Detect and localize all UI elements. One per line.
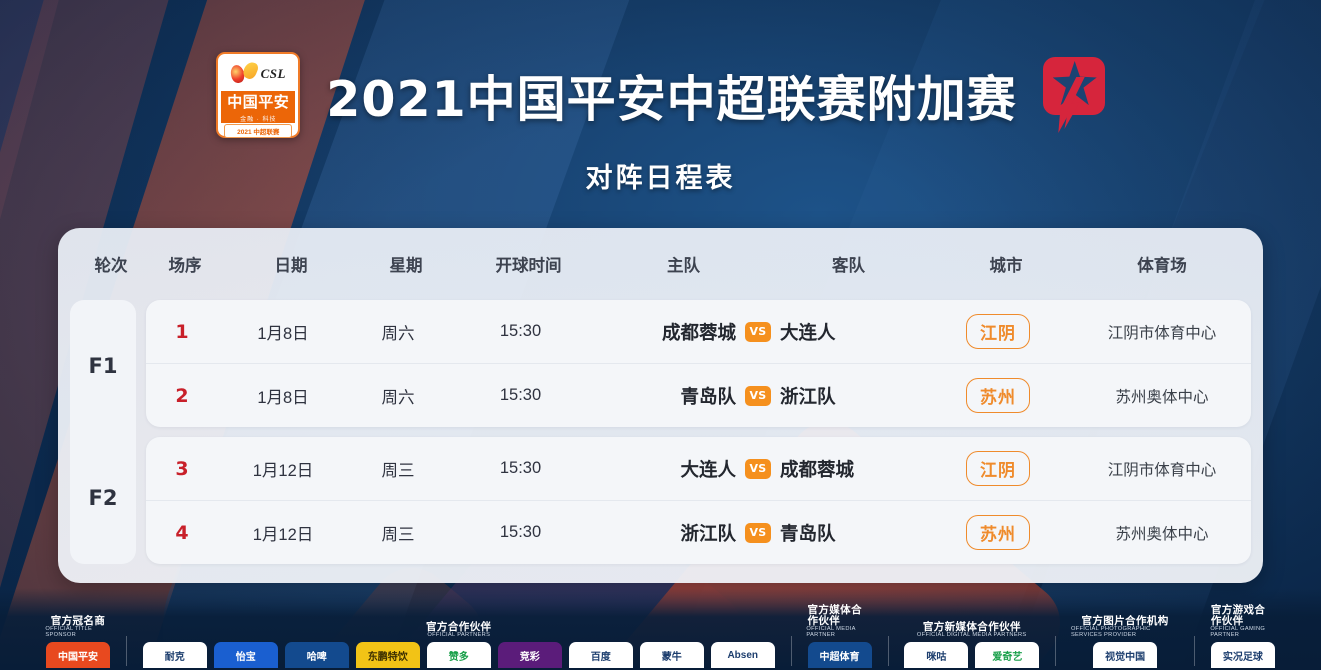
sponsor-logo[interactable]: 哈啤	[285, 642, 349, 668]
cell-weekday: 周三	[348, 457, 448, 481]
cell-date: 1月8日	[218, 384, 348, 408]
away-team: 浙江队	[780, 383, 880, 409]
csl-logo-top: CSL	[221, 57, 295, 91]
away-team: 大连人	[780, 319, 880, 345]
column-header-home: 主队	[601, 252, 766, 276]
sponsor-logo[interactable]: Absen	[711, 642, 775, 668]
sponsor-group: 官方新媒体合作伙伴OFFICIAL DIGITAL MEDIA PARTNERS…	[904, 622, 1039, 668]
csl-logo-sponsor: 中国平安 金融 · 科技	[221, 91, 295, 123]
sponsor-logo-row: 咪咕爱奇艺	[904, 642, 1039, 668]
home-team: 青岛队	[636, 383, 736, 409]
away-team: 青岛队	[780, 520, 880, 546]
page-subtitle: 对阵日程表	[0, 156, 1321, 195]
cell-matchup: 大连人 VS 成都蓉城	[593, 456, 923, 482]
cell-venue: 苏州奥体中心	[1073, 522, 1251, 544]
sponsor-divider	[791, 636, 792, 666]
sponsor-logo-row: 耐克怡宝哈啤东鹏特饮赞多竞彩百度蒙牛Absen	[143, 642, 775, 668]
table-body: F1 F2 1 1月8日 周六 15:30 成都蓉城 VS 大连人 江阴	[70, 300, 1251, 564]
sponsor-logo[interactable]: 赞多	[427, 642, 491, 668]
cell-date: 1月8日	[218, 320, 348, 344]
csl-flame-icon	[231, 63, 253, 85]
sponsor-logo[interactable]: 竞彩	[498, 642, 562, 668]
home-team: 成都蓉城	[636, 319, 736, 345]
table-row[interactable]: 1 1月8日 周六 15:30 成都蓉城 VS 大连人 江阴 江阴市体育中心	[146, 300, 1251, 363]
sponsor-groups: 官方冠名商OFFICIAL TITLE SPONSOR中国平安官方合作伙伴OFF…	[0, 605, 1321, 670]
cell-date: 1月12日	[218, 457, 348, 481]
page-title: 2021中国平安中超联赛附加赛	[326, 60, 1016, 131]
sponsor-divider	[1055, 636, 1056, 666]
cell-city: 江阴	[923, 451, 1073, 486]
away-team: 成都蓉城	[780, 456, 880, 482]
title-row: CSL 中国平安 金融 · 科技 2021 中超联赛 2021中国平安中超联赛附…	[0, 52, 1321, 138]
csl-star-bolt-icon	[1043, 57, 1105, 133]
city-badge: 江阴	[966, 314, 1030, 349]
csl-logo-sponsor-name: 中国平安	[227, 91, 289, 112]
sponsor-logo-row: 视觉中国	[1093, 642, 1157, 668]
sponsor-caption: 官方图片合作机构OFFICIAL PHOTOGRAPHIC SERVICES P…	[1072, 616, 1178, 639]
column-header-dow: 星期	[356, 252, 456, 276]
sponsor-caption: 官方冠名商OFFICIAL TITLE SPONSOR	[46, 616, 110, 639]
round-group-f2: 3 1月12日 周三 15:30 大连人 VS 成都蓉城 江阴 江阴市体育中心	[146, 437, 1251, 564]
cell-date: 1月12日	[218, 521, 348, 545]
csl-logo-season: 2021 中超联赛	[224, 124, 292, 138]
sponsor-logo[interactable]: 耐克	[143, 642, 207, 668]
csl-logo-mark-text: CSL	[261, 66, 286, 82]
table-header-row: 轮次 场序 日期 星期 开球时间 主队 客队 城市 体育场	[70, 228, 1251, 300]
cell-matchup: 成都蓉城 VS 大连人	[593, 319, 923, 345]
vs-badge-icon: VS	[745, 322, 771, 342]
sponsor-logo[interactable]: 实况足球	[1211, 642, 1275, 668]
cell-weekday: 周六	[348, 384, 448, 408]
table-row[interactable]: 4 1月12日 周三 15:30 浙江队 VS 青岛队 苏州 苏州奥体中心	[146, 500, 1251, 564]
sponsor-caption-en: OFFICIAL PARTNERS	[427, 633, 490, 639]
sponsor-logo[interactable]: 怡宝	[214, 642, 278, 668]
sponsor-caption: 官方媒体合作伙伴OFFICIAL MEDIA PARTNER	[807, 605, 871, 639]
cell-match-no: 2	[146, 385, 218, 407]
csl-league-logo: CSL 中国平安 金融 · 科技 2021 中超联赛	[216, 52, 300, 138]
column-header-time: 开球时间	[456, 252, 601, 276]
page-header: CSL 中国平安 金融 · 科技 2021 中超联赛 2021中国平安中超联赛附…	[0, 52, 1321, 195]
cell-weekday: 周六	[348, 320, 448, 344]
city-badge: 苏州	[966, 515, 1030, 550]
sponsor-group: 官方游戏合作伙伴OFFICIAL GAMING PARTNER实况足球	[1211, 605, 1275, 668]
sponsor-group: 官方媒体合作伙伴OFFICIAL MEDIA PARTNER中超体育	[807, 605, 871, 668]
home-team: 大连人	[636, 456, 736, 482]
sponsor-group: 官方冠名商OFFICIAL TITLE SPONSOR中国平安	[46, 616, 110, 668]
sponsor-logo[interactable]: 中国平安	[46, 642, 110, 668]
cell-weekday: 周三	[348, 521, 448, 545]
sponsor-divider	[126, 636, 127, 666]
column-header-no: 场序	[144, 252, 226, 276]
sponsor-caption: 官方新媒体合作伙伴OFFICIAL DIGITAL MEDIA PARTNERS	[918, 622, 1025, 639]
round-group-f1: 1 1月8日 周六 15:30 成都蓉城 VS 大连人 江阴 江阴市体育中心 2	[146, 300, 1251, 427]
round-column: F1 F2	[70, 300, 136, 564]
city-badge: 苏州	[966, 378, 1030, 413]
sponsor-logo-row: 中超体育	[808, 642, 872, 668]
sponsor-group: 官方合作伙伴OFFICIAL PARTNERS耐克怡宝哈啤东鹏特饮赞多竞彩百度蒙…	[143, 622, 775, 668]
vs-badge-icon: VS	[745, 523, 771, 543]
sponsor-caption-en: OFFICIAL DIGITAL MEDIA PARTNERS	[917, 633, 1027, 639]
cell-venue: 苏州奥体中心	[1073, 385, 1251, 407]
column-header-away: 客队	[766, 252, 931, 276]
sponsor-logo-row: 实况足球	[1211, 642, 1275, 668]
sponsor-logo[interactable]: 视觉中国	[1093, 642, 1157, 668]
round-label-f1: F1	[70, 300, 136, 432]
sponsor-bar: 官方冠名商OFFICIAL TITLE SPONSOR中国平安官方合作伙伴OFF…	[0, 588, 1321, 670]
cell-venue: 江阴市体育中心	[1073, 321, 1251, 343]
schedule-panel: 轮次 场序 日期 星期 开球时间 主队 客队 城市 体育场 F1 F2 1 1月…	[58, 228, 1263, 583]
sponsor-caption-en: OFFICIAL MEDIA PARTNER	[807, 627, 872, 639]
cell-match-no: 3	[146, 458, 218, 480]
sponsor-logo-row: 中国平安	[46, 642, 110, 668]
cell-city: 江阴	[923, 314, 1073, 349]
sponsor-logo[interactable]: 东鹏特饮	[356, 642, 420, 668]
cell-kickoff: 15:30	[448, 523, 593, 542]
cell-venue: 江阴市体育中心	[1073, 458, 1251, 480]
sponsor-logo[interactable]: 蒙牛	[640, 642, 704, 668]
column-header-round: 轮次	[78, 252, 144, 276]
sponsor-caption-cn: 官方媒体合作伙伴	[807, 605, 871, 627]
sponsor-group: 官方图片合作机构OFFICIAL PHOTOGRAPHIC SERVICES P…	[1072, 616, 1178, 668]
cell-city: 苏州	[923, 515, 1073, 550]
round-label-f2: F2	[70, 432, 136, 564]
cell-city: 苏州	[923, 378, 1073, 413]
sponsor-logo[interactable]: 百度	[569, 642, 633, 668]
column-header-city: 城市	[931, 252, 1081, 276]
column-header-venue: 体育场	[1081, 252, 1243, 276]
table-row[interactable]: 3 1月12日 周三 15:30 大连人 VS 成都蓉城 江阴 江阴市体育中心	[146, 437, 1251, 500]
sponsor-logo[interactable]: 爱奇艺	[975, 642, 1039, 668]
cell-kickoff: 15:30	[448, 386, 593, 405]
sponsor-caption: 官方合作伙伴OFFICIAL PARTNERS	[426, 622, 491, 639]
cell-matchup: 浙江队 VS 青岛队	[593, 520, 923, 546]
cell-match-no: 4	[146, 522, 218, 544]
cell-match-no: 1	[146, 321, 218, 343]
sponsor-divider	[1194, 636, 1195, 666]
sponsor-logo[interactable]: 咪咕	[904, 642, 968, 668]
vs-badge-icon: VS	[745, 386, 771, 406]
csl-logo-sponsor-sub: 金融 · 科技	[240, 114, 276, 123]
sponsor-caption-cn: 官方游戏合作伙伴	[1211, 605, 1275, 627]
table-row[interactable]: 2 1月8日 周六 15:30 青岛队 VS 浙江队 苏州 苏州奥体中心	[146, 363, 1251, 427]
sponsor-caption: 官方游戏合作伙伴OFFICIAL GAMING PARTNER	[1211, 605, 1275, 639]
cell-kickoff: 15:30	[448, 459, 593, 478]
cell-matchup: 青岛队 VS 浙江队	[593, 383, 923, 409]
column-header-date: 日期	[226, 252, 356, 276]
city-badge: 江阴	[966, 451, 1030, 486]
cell-kickoff: 15:30	[448, 322, 593, 341]
sponsor-caption-en: OFFICIAL PHOTOGRAPHIC SERVICES PROVIDER	[1071, 627, 1179, 639]
sponsor-divider	[888, 636, 889, 666]
round-groups: 1 1月8日 周六 15:30 成都蓉城 VS 大连人 江阴 江阴市体育中心 2	[146, 300, 1251, 564]
sponsor-logo[interactable]: 中超体育	[808, 642, 872, 668]
vs-badge-icon: VS	[745, 459, 771, 479]
sponsor-caption-en: OFFICIAL GAMING PARTNER	[1210, 627, 1275, 639]
sponsor-caption-en: OFFICIAL TITLE SPONSOR	[45, 627, 110, 639]
home-team: 浙江队	[636, 520, 736, 546]
